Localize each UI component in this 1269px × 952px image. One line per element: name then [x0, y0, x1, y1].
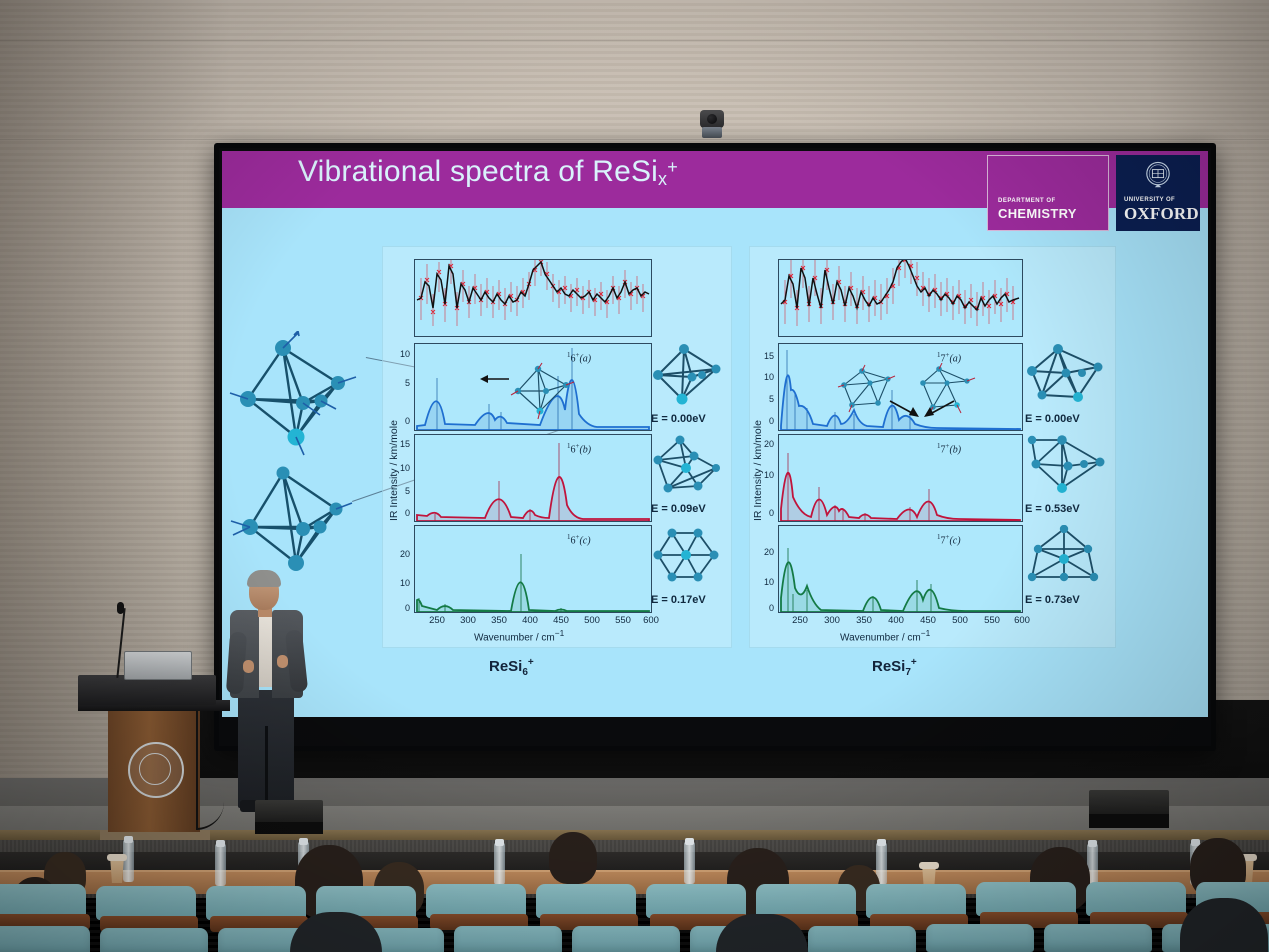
energy-label-resi7-c: E = 0.73eV: [1025, 594, 1080, 606]
caption-sub: 7: [905, 667, 911, 678]
xtick-resi7: 550: [980, 615, 1004, 626]
audience-seat-front: [808, 926, 916, 952]
presenter-hand-right: [277, 655, 288, 668]
camera-lens: [707, 114, 717, 124]
audience-seat: [0, 884, 86, 918]
ytick-resi6-c: 20: [390, 549, 410, 559]
chemistry-logo: DEPARTMENT OF CHEMISTRY: [987, 155, 1109, 231]
label-suffix: (b): [579, 444, 591, 455]
audience-head: [549, 832, 597, 884]
ptz-camera-icon: [700, 110, 724, 140]
inline-molecule-resi6-a: [508, 361, 576, 423]
xtick-resi7: 600: [1010, 615, 1034, 626]
presenter-hand-left: [243, 660, 254, 673]
xtick-resi7: 350: [852, 615, 876, 626]
xtick-resi6: 350: [487, 615, 511, 626]
xaxis-label-resi6: Wavenumber / cm−1: [474, 628, 564, 643]
plot-resi6-c-data: [415, 526, 651, 612]
plot-resi7-c-data: [779, 526, 1022, 612]
caption-sup: +: [911, 657, 917, 668]
label-suffix: (c): [579, 535, 590, 546]
energy-label-resi6-a: E = 0.00eV: [651, 413, 706, 425]
chemistry-logo-line2: CHEMISTRY: [998, 206, 1077, 221]
presenter-leg-split: [265, 726, 268, 808]
bottle-cap: [1088, 840, 1097, 847]
presentation-slide: Vibrational spectra of ReSix+ DEPARTMENT…: [222, 151, 1208, 717]
stage-monitor-right-front: [1089, 814, 1169, 828]
yaxis-label-resi7: IR Intensity / km/mole: [752, 420, 764, 521]
plot-resi6-experimental-data: [415, 260, 651, 336]
ytick-resi7-a: 15: [754, 351, 774, 361]
audience-seat-front: [572, 926, 680, 952]
xtick-resi7: 300: [820, 615, 844, 626]
ytick-resi6-a: 10: [390, 349, 410, 359]
xtick-resi6: 400: [518, 615, 542, 626]
plot-label-resi7-b: 17+(b): [937, 442, 961, 455]
title-superscript: +: [667, 157, 678, 177]
ytick-resi6-c: 10: [390, 578, 410, 588]
plot-resi6-b-data: [415, 435, 651, 521]
xaxis-label-text: Wavenumber / cm: [474, 632, 555, 643]
water-bottle: [494, 843, 505, 885]
audience-seat-front: [454, 926, 562, 952]
audience-seat-front: [926, 924, 1034, 952]
ytick-resi7-c: 0: [754, 603, 774, 613]
xaxis-label-text: Wavenumber / cm: [840, 632, 921, 643]
podium-seal-logo: [128, 742, 184, 798]
yaxis-label-resi6: IR Intensity / km/mole: [388, 420, 400, 521]
bottle-cap: [124, 836, 133, 843]
podium-laptop: [124, 651, 192, 680]
ytick-resi7-a: 10: [754, 372, 774, 382]
audience-seat: [536, 884, 636, 918]
caption-sup: +: [528, 657, 534, 668]
bottle-cap: [495, 839, 504, 846]
bottle-cap: [216, 840, 225, 847]
energy-label-resi6-c: E = 0.17eV: [651, 594, 706, 606]
chemistry-logo-line1: DEPARTMENT OF: [998, 198, 1056, 204]
energy-label-resi7-b: E = 0.53eV: [1025, 503, 1080, 515]
label-suffix: (a): [579, 353, 591, 364]
podium-cable: [196, 710, 224, 830]
audience-seat-front: [100, 928, 208, 952]
plot-resi7-a-data: [779, 344, 1022, 430]
water-bottle: [123, 840, 134, 882]
audience-seat: [426, 884, 526, 918]
ytick-resi7-c: 10: [754, 577, 774, 587]
xtick-resi6: 250: [425, 615, 449, 626]
pointer-arrow-resi7-a-left: [888, 399, 920, 417]
caption-main: ReSi: [489, 658, 522, 675]
water-bottle: [215, 844, 226, 886]
water-bottle: [684, 842, 695, 884]
xtick-resi6: 600: [639, 615, 663, 626]
xaxis-label-sup: −1: [555, 628, 565, 638]
microphone-icon: [117, 602, 124, 614]
bottle-cap: [299, 838, 308, 845]
xtick-resi6: 450: [549, 615, 573, 626]
xtick-resi7: 250: [788, 615, 812, 626]
audience-seat: [96, 886, 196, 920]
plot-label-resi6-c: 16+(c): [567, 533, 591, 546]
ytick-resi6-c: 0: [390, 603, 410, 613]
caption-main: ReSi: [872, 658, 905, 675]
pointer-arrow-resi6-a: [480, 373, 510, 385]
xtick-resi7: 500: [948, 615, 972, 626]
audience-seat-front: [0, 926, 90, 952]
xtick-resi6: 300: [456, 615, 480, 626]
audience-seat: [646, 884, 746, 918]
energy-label-resi7-a: E = 0.00eV: [1025, 413, 1080, 425]
isomer-molecule-resi6-b: [650, 434, 724, 500]
title-text: Vibrational spectra of ReSi: [298, 155, 658, 188]
audience-seat: [976, 882, 1076, 916]
plot-resi7-b-data: [779, 435, 1022, 521]
audience-seat: [756, 884, 856, 918]
oxford-crest-icon: [1142, 160, 1174, 192]
isomer-molecule-resi7-a: [1022, 343, 1106, 409]
caption-resi6: ReSi6+: [489, 657, 534, 678]
xtick-resi7: 450: [916, 615, 940, 626]
pointer-arrow-resi7-a-right: [922, 399, 956, 417]
audience-seat: [866, 884, 966, 918]
oxford-logo-line2: OXFORD: [1124, 204, 1199, 224]
isomer-molecule-resi6-a: [650, 343, 724, 409]
xtick-resi7: 400: [884, 615, 908, 626]
isomer-molecule-resi7-b: [1022, 434, 1106, 500]
xtick-resi6: 500: [580, 615, 604, 626]
plot-label-resi6-b: 16+(b): [567, 442, 591, 455]
presenter-hair: [247, 570, 281, 587]
caption-sub: 6: [522, 667, 528, 678]
stage-monitor-left-front: [255, 822, 323, 834]
page-title: Vibrational spectra of ReSix+: [298, 155, 678, 190]
oxford-logo: UNIVERSITY OF OXFORD: [1116, 155, 1200, 231]
energy-label-resi6-b: E = 0.09eV: [651, 503, 706, 515]
xaxis-label-sup: −1: [921, 628, 931, 638]
enlarged-molecule-diagrams: [228, 331, 388, 601]
label-suffix: (b): [949, 444, 961, 455]
caption-resi7: ReSi7+: [872, 657, 917, 678]
title-subscript: x: [658, 169, 667, 189]
camera-mount: [702, 127, 722, 138]
xtick-resi6: 550: [611, 615, 635, 626]
ytick-resi6-a: 5: [390, 378, 410, 388]
coffee-cup-lid: [919, 862, 939, 869]
audience-seat: [1086, 882, 1186, 916]
xaxis-label-resi7: Wavenumber / cm−1: [840, 628, 930, 643]
label-suffix: (c): [949, 535, 960, 546]
plot-label-resi7-c: 17+(c): [937, 533, 961, 546]
coffee-cup-lid: [107, 854, 127, 861]
ytick-resi7-c: 20: [754, 547, 774, 557]
audience-seat-front: [1044, 924, 1152, 952]
isomer-molecule-resi7-c: [1022, 525, 1106, 591]
ytick-resi7-a: 5: [754, 394, 774, 404]
plot-resi7-experimental-data: [779, 260, 1022, 336]
lecture-hall-photo: Vibrational spectra of ReSix+ DEPARTMENT…: [0, 0, 1269, 952]
audience-seat: [206, 886, 306, 920]
oxford-logo-line1: UNIVERSITY OF: [1124, 197, 1175, 203]
isomer-molecule-resi6-c: [650, 525, 724, 591]
bottle-cap: [685, 838, 694, 845]
bottle-cap: [877, 839, 886, 846]
